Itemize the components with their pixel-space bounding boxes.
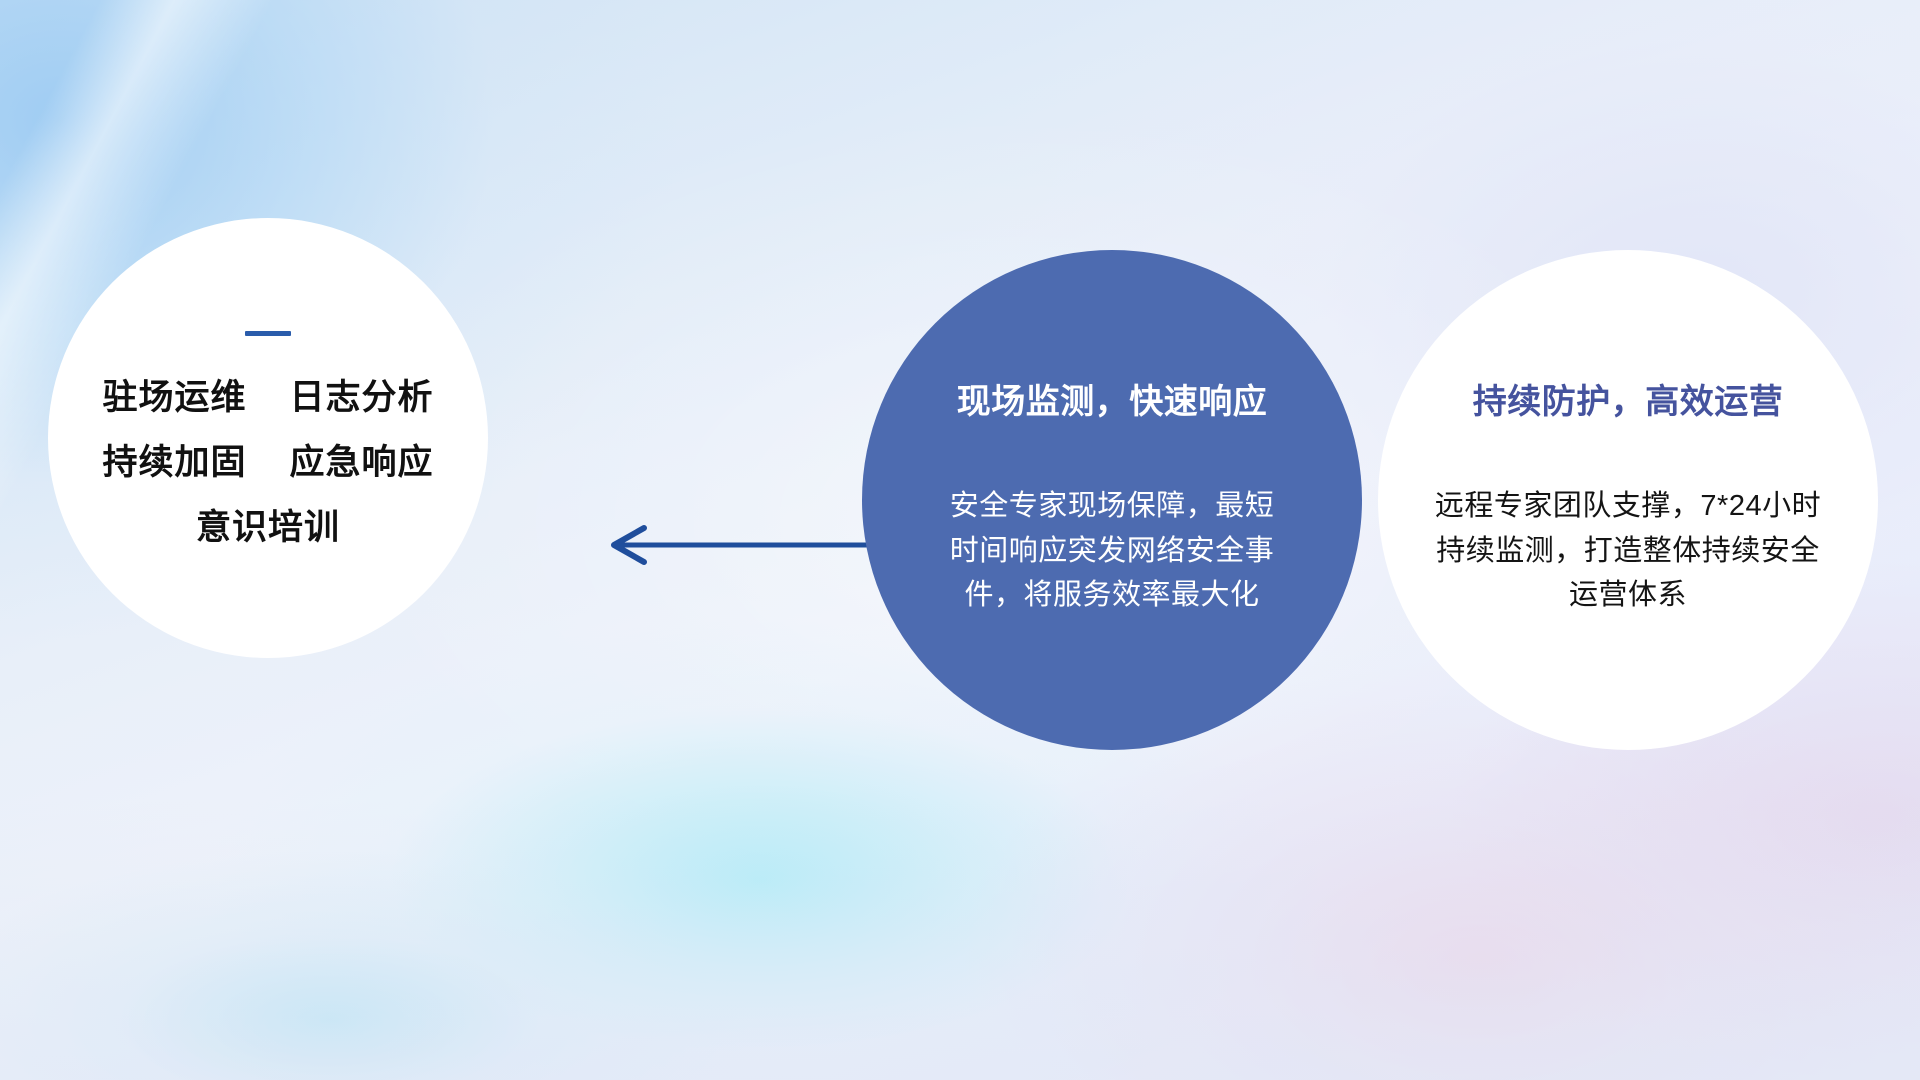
- arrow-left-icon: [614, 528, 900, 562]
- left-capability-circle[interactable]: 驻场运维 日志分析 持续加固 应急响应 意识培训: [48, 218, 488, 658]
- continuous-protection-body: 远程专家团队支撑，7*24小时持续监测，打造整体持续安全运营体系: [1428, 484, 1828, 616]
- onsite-monitoring-body: 安全专家现场保障，最短时间响应突发网络安全事件，将服务效率最大化: [947, 484, 1277, 616]
- slide-canvas: 驻场运维 日志分析 持续加固 应急响应 意识培训 现场监测，快速响应 安全专家现…: [0, 0, 1920, 1080]
- capability-line-2: 持续加固 应急响应: [103, 445, 434, 480]
- onsite-monitoring-circle[interactable]: 现场监测，快速响应 安全专家现场保障，最短时间响应突发网络安全事件，将服务效率最…: [862, 250, 1362, 750]
- continuous-protection-circle[interactable]: 持续防护，高效运营 远程专家团队支撑，7*24小时持续监测，打造整体持续安全运营…: [1378, 250, 1878, 750]
- capability-line-1: 驻场运维 日志分析: [103, 380, 434, 415]
- capability-line-3: 意识培训: [196, 510, 340, 545]
- connector-arrow: [600, 520, 900, 570]
- divider-rule: [245, 331, 291, 336]
- onsite-monitoring-title: 现场监测，快速响应: [957, 383, 1268, 422]
- continuous-protection-title: 持续防护，高效运营: [1473, 383, 1784, 422]
